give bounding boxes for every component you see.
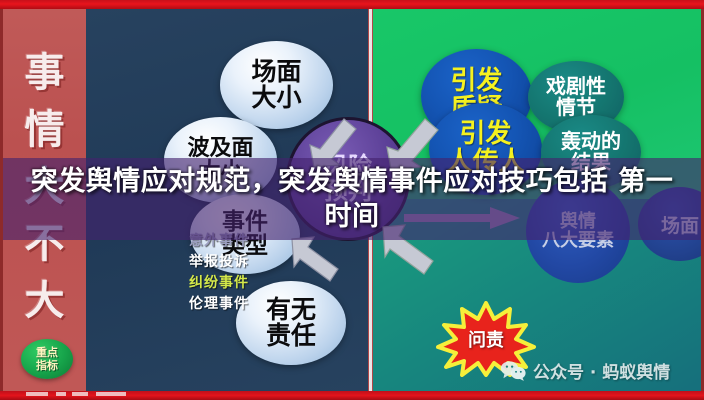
sidebar-char-1: 事 — [3, 45, 86, 102]
frame-top-stripe — [0, 0, 704, 9]
bubble-responsibility-line1: 有无 — [266, 297, 316, 324]
sidebar-char-5: 大 — [3, 273, 86, 330]
sidebar-char-2: 情 — [3, 102, 86, 159]
arrow-down-right-left-quadrant — [286, 231, 352, 297]
frame-left-edge — [0, 9, 3, 391]
bubble-responsibility-line2: 责任 — [266, 323, 316, 350]
bubble-sensational-result-line1: 轰动的 — [561, 131, 621, 152]
key-indicator-badge: 重点 指标 — [21, 339, 73, 379]
bubble-raise-doubt-line1: 引发 — [450, 68, 502, 96]
list-item: 纠纷事件 — [189, 273, 249, 294]
frame-bottom-stripe — [0, 391, 704, 400]
list-item: 伦理事件 — [189, 294, 249, 315]
bubble-dramatic-plot-line1: 戏剧性 — [546, 76, 606, 97]
list-item: 举报投诉 — [189, 252, 249, 273]
wechat-icon — [500, 360, 526, 381]
key-indicator-badge-line2: 指标 — [36, 359, 58, 372]
key-indicator-badge-line1: 重点 — [36, 346, 58, 359]
bubble-scene-size-line2: 大小 — [251, 85, 301, 112]
watermark-text: 公众号 · 蚂蚁舆情 — [533, 358, 670, 383]
bubble-spread-size-line1: 波及面 — [187, 137, 253, 160]
event-category-list: 意外事件 举报投诉 纠纷事件 伦理事件 — [189, 231, 249, 315]
overlay-caption: 突发舆情应对规范，突发舆情事件应对技巧包括 第一时间 — [0, 160, 704, 238]
bubble-person-to-person-line1: 引发 — [446, 121, 524, 149]
poster-image: 场面 大小 波及面 大小 事件 类型 有无 责任 意外事件 举报投诉 — [0, 0, 704, 400]
bubble-scene-size-line1: 场面 — [251, 59, 301, 86]
watermark: 公众号 · 蚂蚁舆情 — [500, 358, 670, 383]
